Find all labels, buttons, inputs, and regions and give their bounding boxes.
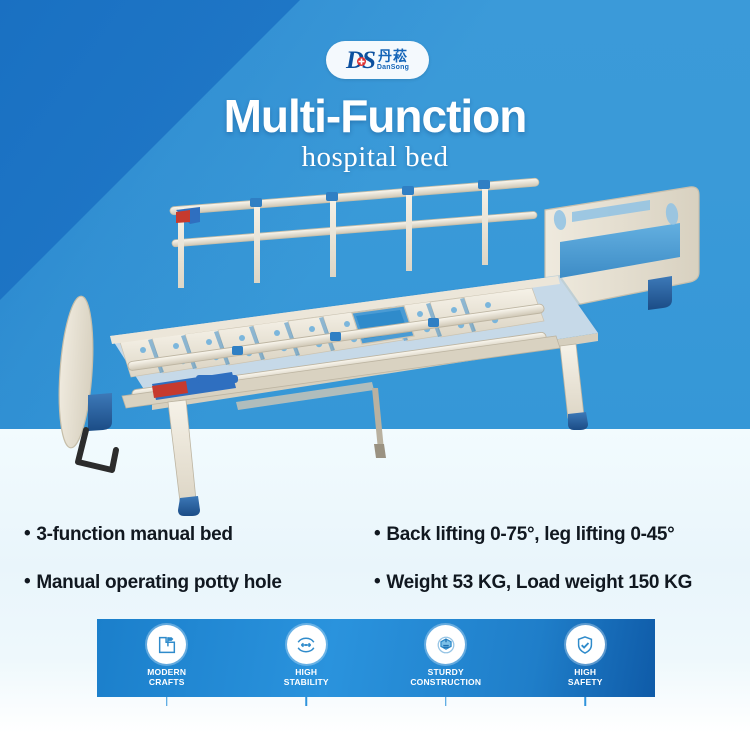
medical-cross-icon [357, 57, 366, 66]
brand-logo: DS 丹菘 DanSong [326, 41, 429, 79]
bullet-dot-icon: • [374, 524, 380, 544]
feature-icon-badge [287, 625, 326, 664]
feature-modern-crafts: MODERN CRAFTS [97, 619, 237, 697]
feature-tick-mark [585, 697, 587, 706]
product-banner: DS 丹菘 DanSong Multi-Function hospital be… [0, 0, 750, 733]
brand-logo-ds-mark: DS [346, 48, 374, 73]
feature-label: MODERN CRAFTS [147, 667, 186, 688]
spec-item: • Back lifting 0-75°, leg lifting 0-45° [374, 524, 692, 546]
crank-handle [78, 430, 116, 470]
feature-label-line2: STABILITY [284, 677, 329, 687]
feature-highlight-bar: MODERN CRAFTS HIGH STAB [97, 619, 655, 697]
feature-tick-mark [445, 697, 447, 706]
feature-label: STURDY CONSTRUCTION [410, 667, 481, 688]
feature-label-line1: HIGH [568, 667, 603, 677]
feature-tick-mark [166, 697, 168, 706]
feature-icon-badge [566, 625, 605, 664]
product-image-hospital-bed [0, 150, 750, 530]
feature-label-line1: MODERN [147, 667, 186, 677]
feature-label: HIGH SAFETY [568, 667, 603, 688]
high-stability-icon [295, 634, 317, 656]
sturdy-construction-icon [435, 634, 457, 656]
feature-tick-mark [306, 697, 308, 706]
brand-logo-chinese: 丹菘 DanSong [377, 49, 409, 71]
brand-logo-hanzi: 丹菘 [378, 49, 408, 63]
spec-text: 3-function manual bed [36, 524, 232, 546]
feature-label: HIGH STABILITY [284, 667, 329, 688]
feature-icon-badge [426, 625, 465, 664]
spec-bullets: • 3-function manual bed • Manual operati… [0, 524, 750, 616]
bed-footboard [55, 295, 112, 449]
feature-high-safety: HIGH SAFETY [516, 619, 656, 697]
bed-side-rail-far [170, 178, 539, 288]
feature-sturdy-construction: STURDY CONSTRUCTION [376, 619, 516, 697]
bullet-dot-icon: • [374, 572, 380, 592]
spec-text: Weight 53 KG, Load weight 150 KG [386, 572, 692, 594]
feature-icon-badge [147, 625, 186, 664]
spec-item: • Manual operating potty hole [24, 572, 282, 594]
feature-label-line1: HIGH [284, 667, 329, 677]
spec-item: • 3-function manual bed [24, 524, 282, 546]
bullet-dot-icon: • [24, 572, 30, 592]
spec-text: Manual operating potty hole [36, 572, 281, 594]
feature-label-line2: CONSTRUCTION [410, 677, 481, 687]
high-safety-shield-icon [574, 634, 596, 656]
bullet-dot-icon: • [24, 524, 30, 544]
spec-column-left: • 3-function manual bed • Manual operati… [24, 524, 282, 594]
spec-item: • Weight 53 KG, Load weight 150 KG [374, 572, 692, 594]
brand-logo-pinyin: DanSong [377, 64, 409, 71]
modern-crafts-icon [156, 634, 178, 656]
spec-text: Back lifting 0-75°, leg lifting 0-45° [386, 524, 674, 546]
feature-label-line2: SAFETY [568, 677, 603, 687]
feature-high-stability: HIGH STABILITY [237, 619, 377, 697]
spec-column-right: • Back lifting 0-75°, leg lifting 0-45° … [374, 524, 692, 594]
feature-label-line2: CRAFTS [147, 677, 186, 687]
page-title: Multi-Function [0, 89, 750, 143]
feature-label-line1: STURDY [410, 667, 481, 677]
